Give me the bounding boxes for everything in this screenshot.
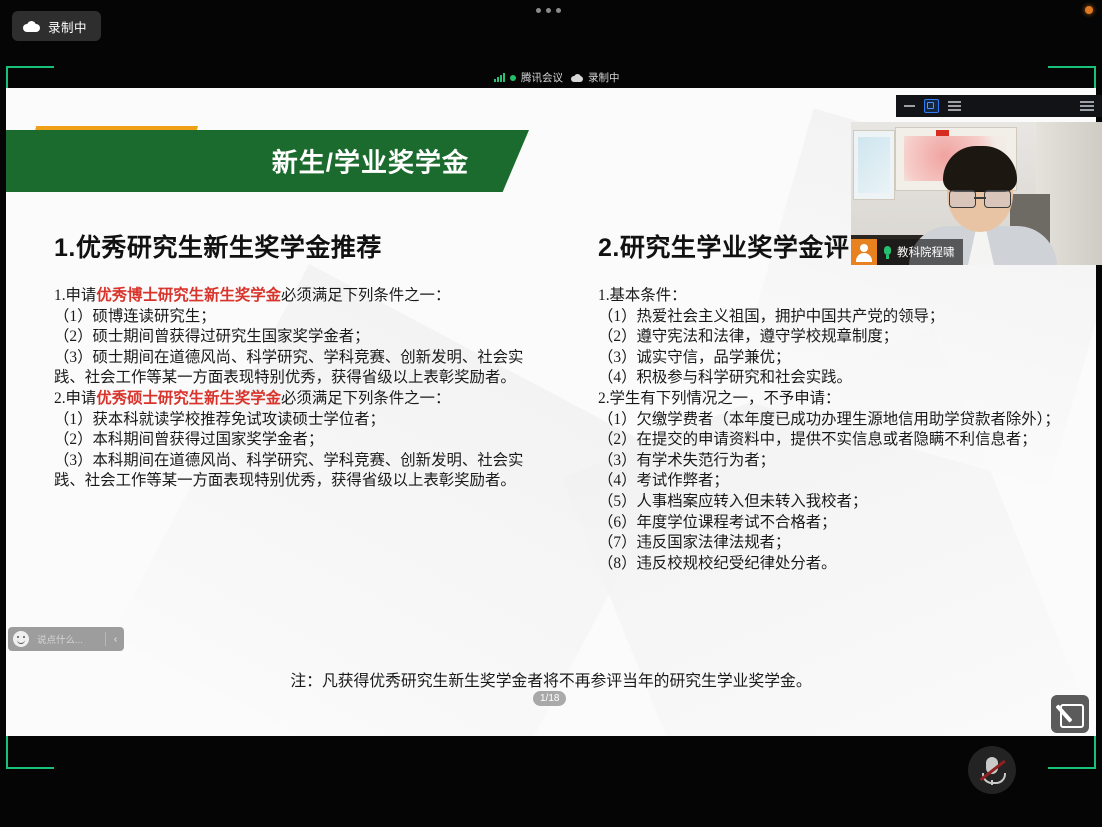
participant-name: 教科院程啸 xyxy=(897,244,955,260)
right-column-body: 1.基本条件： （1）热爱社会主义祖国，拥护中国共产党的领导； （2）遵守宪法和… xyxy=(598,286,1068,574)
mute-microphone-button[interactable] xyxy=(968,746,1016,794)
emoji-icon[interactable] xyxy=(13,631,29,647)
right-block1-lead: 1.基本条件： xyxy=(598,286,1068,307)
right-block2-item: （3）有学术失范行为者； xyxy=(598,451,1068,472)
left-block1-item: （2）硕士期间曾获得过研究生国家奖学金者； xyxy=(54,327,554,348)
left-block2-lead: 2.申请优秀硕士研究生新生奖学金必须满足下列条件之一： xyxy=(54,389,554,410)
left-block2-lead-suffix: 必须满足下列条件之一： xyxy=(281,390,450,407)
slide-footnote: 注：凡获得优秀研究生新生奖学金者将不再参评当年的研究生学业奖学金。 xyxy=(6,668,1096,691)
right-block1-item: （3）诚实守信，品学兼优； xyxy=(598,348,1068,369)
left-block1-lead-suffix: 必须满足下列条件之一： xyxy=(281,287,450,304)
settings-sliders-icon[interactable] xyxy=(1080,101,1094,111)
participant-name-bar: 教科院程啸 xyxy=(851,239,963,265)
slide-right-column: 2.研究生学业奖学金评审 1.基本条件： （1）热爱社会主义祖国，拥护中国共产党… xyxy=(598,228,1068,574)
video-window-toolbar[interactable] xyxy=(896,95,1102,117)
annotation-tool-button[interactable] xyxy=(1051,695,1089,733)
meeting-status-bar: 腾讯会议 录制中 xyxy=(494,70,620,85)
signal-strength-icon xyxy=(494,73,505,82)
right-block2-item: （5）人事档案应转入但未转入我校者； xyxy=(598,492,1068,513)
slide-title: 新生/学业奖学金 xyxy=(272,143,469,180)
connection-dot-icon xyxy=(510,75,516,81)
recording-pill: 录制中 xyxy=(12,11,101,41)
wall-map-small xyxy=(853,130,895,200)
left-block1-lead-highlight: 优秀博士研究生新生奖学金 xyxy=(96,287,281,304)
person-glasses xyxy=(949,190,1011,206)
dot xyxy=(556,8,561,13)
mic-stem-icon xyxy=(991,780,993,785)
cloud-icon xyxy=(23,21,40,32)
status-indicator-dot xyxy=(1085,6,1093,14)
slide-title-banner: 新生/学业奖学金 xyxy=(6,130,529,192)
dot xyxy=(536,8,541,13)
right-block1-item: （1）热爱社会主义祖国，拥护中国共产党的领导； xyxy=(598,307,1068,328)
right-block2-item: （7）违反国家法律法规者； xyxy=(598,533,1068,554)
left-block1-item: （1）硕博连读研究生； xyxy=(54,307,554,328)
avatar xyxy=(851,239,877,265)
gallery-view-icon[interactable] xyxy=(924,99,939,113)
left-column-heading: 1.优秀研究生新生奖学金推荐 xyxy=(54,228,554,264)
left-block2-item: （1）获本科就读学校推荐免试攻读硕士学位者； xyxy=(54,410,554,431)
chat-input-placeholder[interactable]: 说点什么... xyxy=(33,632,106,646)
right-block2-item: （2）在提交的申请资料中，提供不实信息或者隐瞒不利信息者； xyxy=(598,430,1068,451)
left-block2-item: （3）本科期间在道德风尚、科学研究、学科竞赛、创新发明、社会实践、社会工作等某一… xyxy=(54,451,554,492)
left-block2-lead-highlight: 优秀硕士研究生新生奖学金 xyxy=(96,390,281,407)
microphone-icon xyxy=(883,246,892,259)
cloud-recording-icon xyxy=(571,74,583,82)
left-block1-lead-prefix: 1.申请 xyxy=(54,287,96,304)
drag-handle-dots[interactable] xyxy=(536,8,561,13)
right-block2-item: （8）违反校规校纪受纪律处分者。 xyxy=(598,554,1068,575)
page-indicator: 1/18 xyxy=(533,691,566,706)
meeting-recording-label: 录制中 xyxy=(588,70,620,85)
list-view-icon[interactable] xyxy=(948,101,961,111)
meeting-app-label: 腾讯会议 xyxy=(521,70,563,85)
meeting-screen-share-window: 录制中 腾讯会议 录制中 新生/学业奖学金 1.优秀研究生新生奖学金推荐 1.申… xyxy=(0,0,1102,827)
left-block2-item: （2）本科期间曾获得过国家奖学金者； xyxy=(54,430,554,451)
left-column-body: 1.申请优秀博士研究生新生奖学金必须满足下列条件之一： （1）硕博连读研究生； … xyxy=(54,286,554,492)
left-block1-item: （3）硕士期间在道德风尚、科学研究、学科竞赛、创新发明、社会实践、社会工作等某一… xyxy=(54,348,554,389)
chevron-left-icon[interactable]: ‹ xyxy=(110,634,121,645)
right-block1-item: （4）积极参与科学研究和社会实践。 xyxy=(598,368,1068,389)
slide-left-column: 1.优秀研究生新生奖学金推荐 1.申请优秀博士研究生新生奖学金必须满足下列条件之… xyxy=(54,228,554,492)
left-block1-lead: 1.申请优秀博士研究生新生奖学金必须满足下列条件之一： xyxy=(54,286,554,307)
left-block2-lead-prefix: 2.申请 xyxy=(54,390,96,407)
right-block1-item: （2）遵守宪法和法律，遵守学校规章制度； xyxy=(598,327,1068,348)
recording-pill-label: 录制中 xyxy=(48,17,87,36)
dot xyxy=(546,8,551,13)
right-block2-lead: 2.学生有下列情况之一，不予申请： xyxy=(598,389,1068,410)
chat-input-bar[interactable]: 说点什么... ‹ xyxy=(8,627,124,651)
right-block2-item: （6）年度学位课程考试不合格者； xyxy=(598,513,1068,534)
minimize-icon[interactable] xyxy=(904,105,915,107)
right-block2-item: （1）欠缴学费者（本年度已成功办理生源地信用助学贷款者除外）； xyxy=(598,410,1068,431)
right-block2-item: （4）考试作弊者； xyxy=(598,471,1068,492)
